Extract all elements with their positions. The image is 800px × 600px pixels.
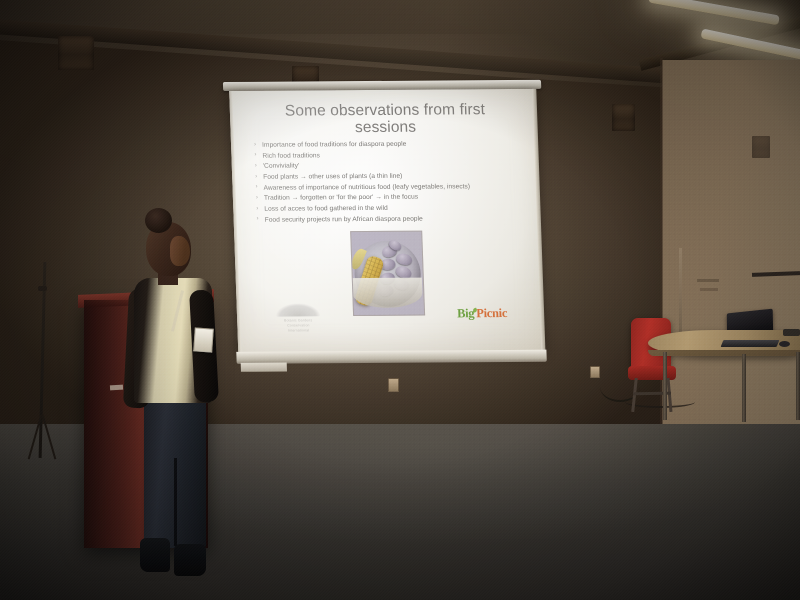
- wall-outlet-2: [590, 366, 600, 378]
- mouse-icon: [779, 341, 790, 347]
- presenter-leg-split: [174, 458, 177, 546]
- presenter-face: [170, 236, 190, 266]
- slide-bullet: Food security projects run by African di…: [256, 214, 528, 227]
- side-table-leg: [742, 354, 746, 422]
- bigpicnic-logo-big: Big: [457, 306, 475, 320]
- presenter-name-badge: [193, 327, 214, 352]
- wall-vent-5: [752, 136, 770, 158]
- wall-vent-4: [612, 104, 635, 131]
- crest-line: International: [267, 328, 329, 334]
- microphone-stand-knob: [38, 286, 47, 291]
- projection-screen: Some observations from first sessions Im…: [229, 84, 545, 371]
- wall-trim-strip: [679, 248, 682, 344]
- projected-slide: Some observations from first sessions Im…: [237, 96, 536, 346]
- botanic-garden-crest-logo: Botanic Gardens Conservation Internation…: [267, 303, 330, 333]
- bowl-rim: [352, 278, 423, 308]
- side-table-leg: [663, 352, 667, 420]
- side-table-leg: [796, 352, 800, 420]
- presenter-hair-bun: [145, 208, 172, 233]
- bigpicnic-logo-picnic: Picnic: [476, 306, 507, 320]
- corn-and-beans-bowl-photo: [350, 231, 425, 316]
- conference-room-photo: Some observations from first sessions Im…: [0, 0, 800, 600]
- slide-bullet-list: Importance of food traditions for diaspo…: [253, 139, 528, 226]
- crest-icon: [276, 303, 320, 316]
- presenter-boot-right: [174, 544, 206, 576]
- slide-title: Some observations from first sessions: [254, 102, 517, 137]
- screen-bottom-tail: [241, 362, 287, 371]
- wall-fixture-1: [697, 279, 719, 282]
- side-table-edge: [648, 350, 800, 356]
- presenter-figure: [118, 208, 228, 580]
- bigpicnic-logo: BigPicnic: [457, 306, 508, 321]
- laptop-keyboard-base: [721, 340, 780, 347]
- presenter-boot-left: [140, 538, 170, 572]
- desk-item: [783, 329, 800, 336]
- wall-vent-1: [58, 36, 94, 70]
- wall-fixture-2: [700, 288, 718, 291]
- wall-outlet-1: [388, 378, 399, 392]
